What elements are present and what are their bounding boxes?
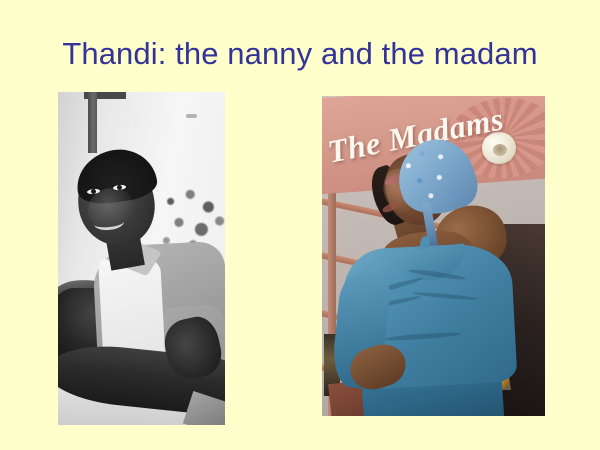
nanny-photograph [58,92,225,425]
nanny-post [88,92,97,153]
presentation-slide: Thandi: the nanny and the madam [0,0,600,450]
madams-photograph: The Madams [322,96,545,416]
nanny-photo-content [58,92,225,425]
page-title: Thandi: the nanny and the madam [0,36,600,72]
nanny-background-mark [186,114,197,118]
